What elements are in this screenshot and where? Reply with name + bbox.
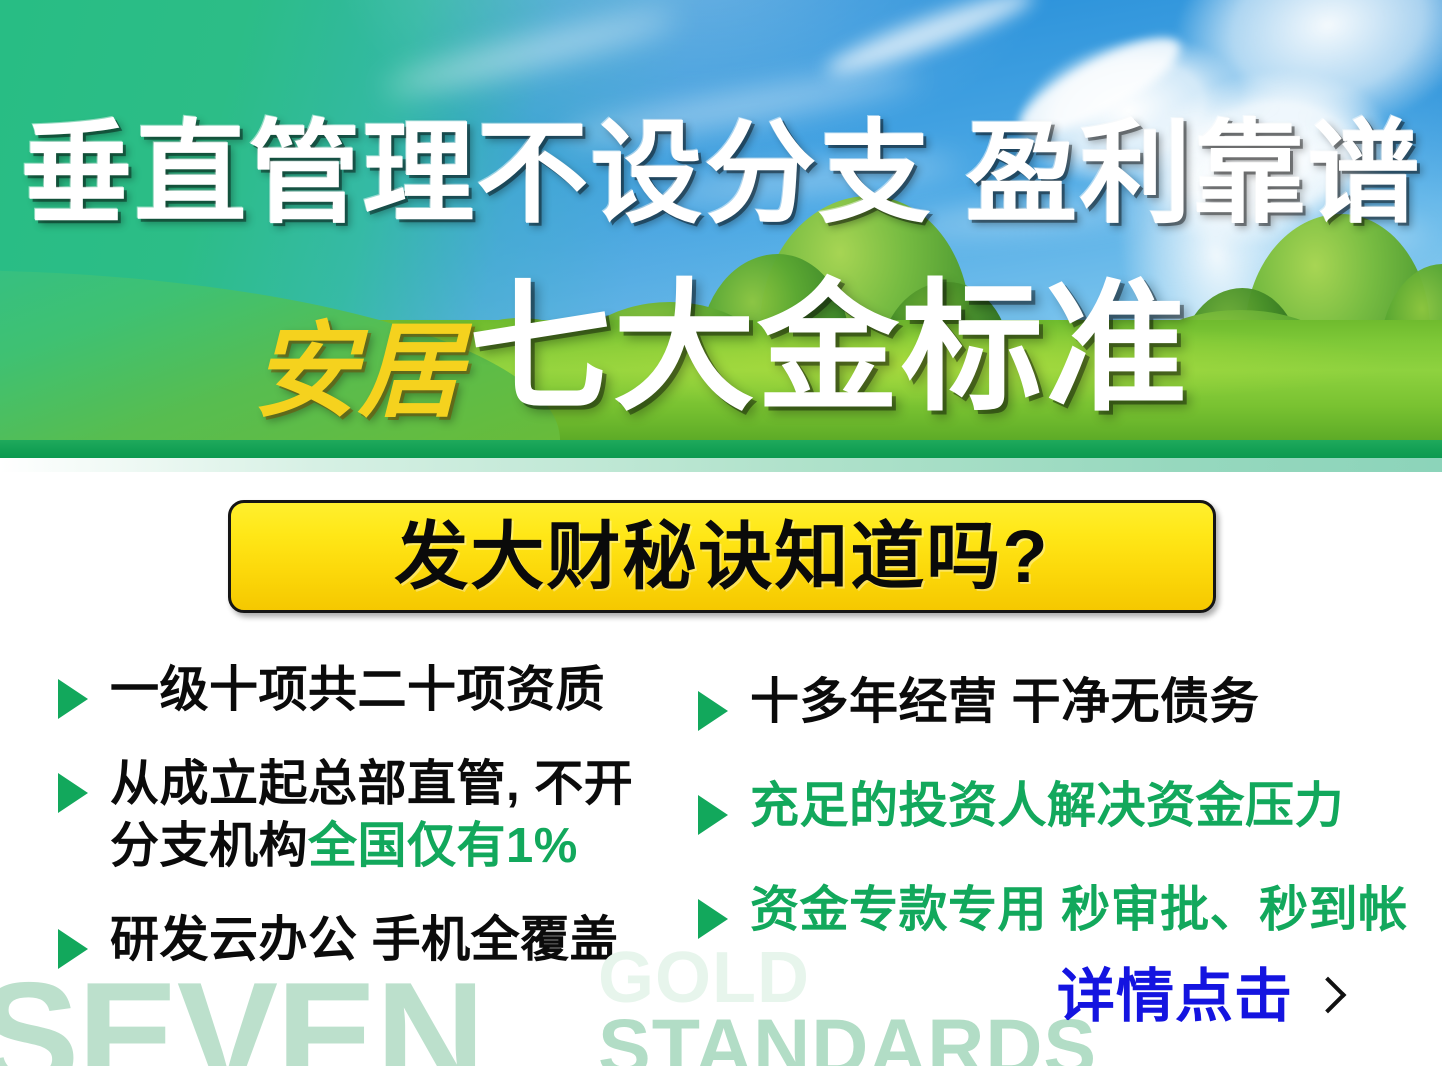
watermark-gold-standards: GOLD STANDARDS [598,945,1097,1066]
feature-text: 资金专款专用 秒审批、秒到帐 [750,883,1408,939]
details-cta-label: 详情点击 [1057,968,1293,1026]
hero-section: 垂直管理不设分支 盈利靠谱 安居七大金标准 [0,0,1442,458]
feature-line2: 分支机构全国仅有1% [110,819,633,875]
promo-banner-page: 垂直管理不设分支 盈利靠谱 安居七大金标准 发大财秘诀知道吗? 一级十项共二十项… [0,0,1442,1066]
headline-banner[interactable]: 发大财秘诀知道吗? [228,500,1216,613]
feature-line1: 一级十项共二十项资质 [110,663,605,717]
feature-text: 充足的投资人解决资金压力 [750,779,1344,835]
feature-text: 从成立起总部直管, 不开 分支机构全国仅有1% [110,757,633,875]
watermark-standards: STANDARDS [598,1011,1097,1066]
list-item: 一级十项共二十项资质 [58,663,698,719]
features-column-left: 一级十项共二十项资质 从成立起总部直管, 不开 分支机构全国仅有1% 研发云办公… [58,663,698,969]
list-item: 充足的投资人解决资金压力 [698,779,1428,835]
headline-banner-text: 发大财秘诀知道吗? [394,520,1049,594]
chevron-right-icon [1310,977,1347,1014]
feature-text: 一级十项共二十项资质 [110,663,605,719]
list-item: 十多年经营 干净无债务 [698,675,1428,731]
feature-line1: 从成立起总部直管, 不开 [110,757,633,811]
triangle-bullet-icon [698,691,728,731]
features-column-right: 十多年经营 干净无债务 充足的投资人解决资金压力 资金专款专用 秒审批、秒到帐 [698,675,1428,939]
feature-line2-plain: 分支机构 [110,819,308,873]
list-item: 资金专款专用 秒审批、秒到帐 [698,883,1428,939]
hero-title-line1: 垂直管理不设分支 盈利靠谱 [0,118,1442,230]
hero-title-line2: 安居七大金标准 [0,278,1442,424]
feature-text: 十多年经营 干净无债务 [750,675,1259,731]
triangle-bullet-icon [58,773,88,813]
brand-name: 安居 [253,320,463,424]
hero-fade-strip [0,458,1442,472]
triangle-bullet-icon [698,795,728,835]
triangle-bullet-icon [698,899,728,939]
feature-highlight: 全国仅有1% [308,819,578,873]
hero-bottom-strip [0,440,1442,458]
list-item: 从成立起总部直管, 不开 分支机构全国仅有1% [58,757,698,875]
hero-headline: 七大金标准 [469,278,1189,420]
watermark-seven: SEVEN [0,971,483,1066]
triangle-bullet-icon [58,679,88,719]
details-cta-button[interactable]: 详情点击 [1057,968,1341,1026]
